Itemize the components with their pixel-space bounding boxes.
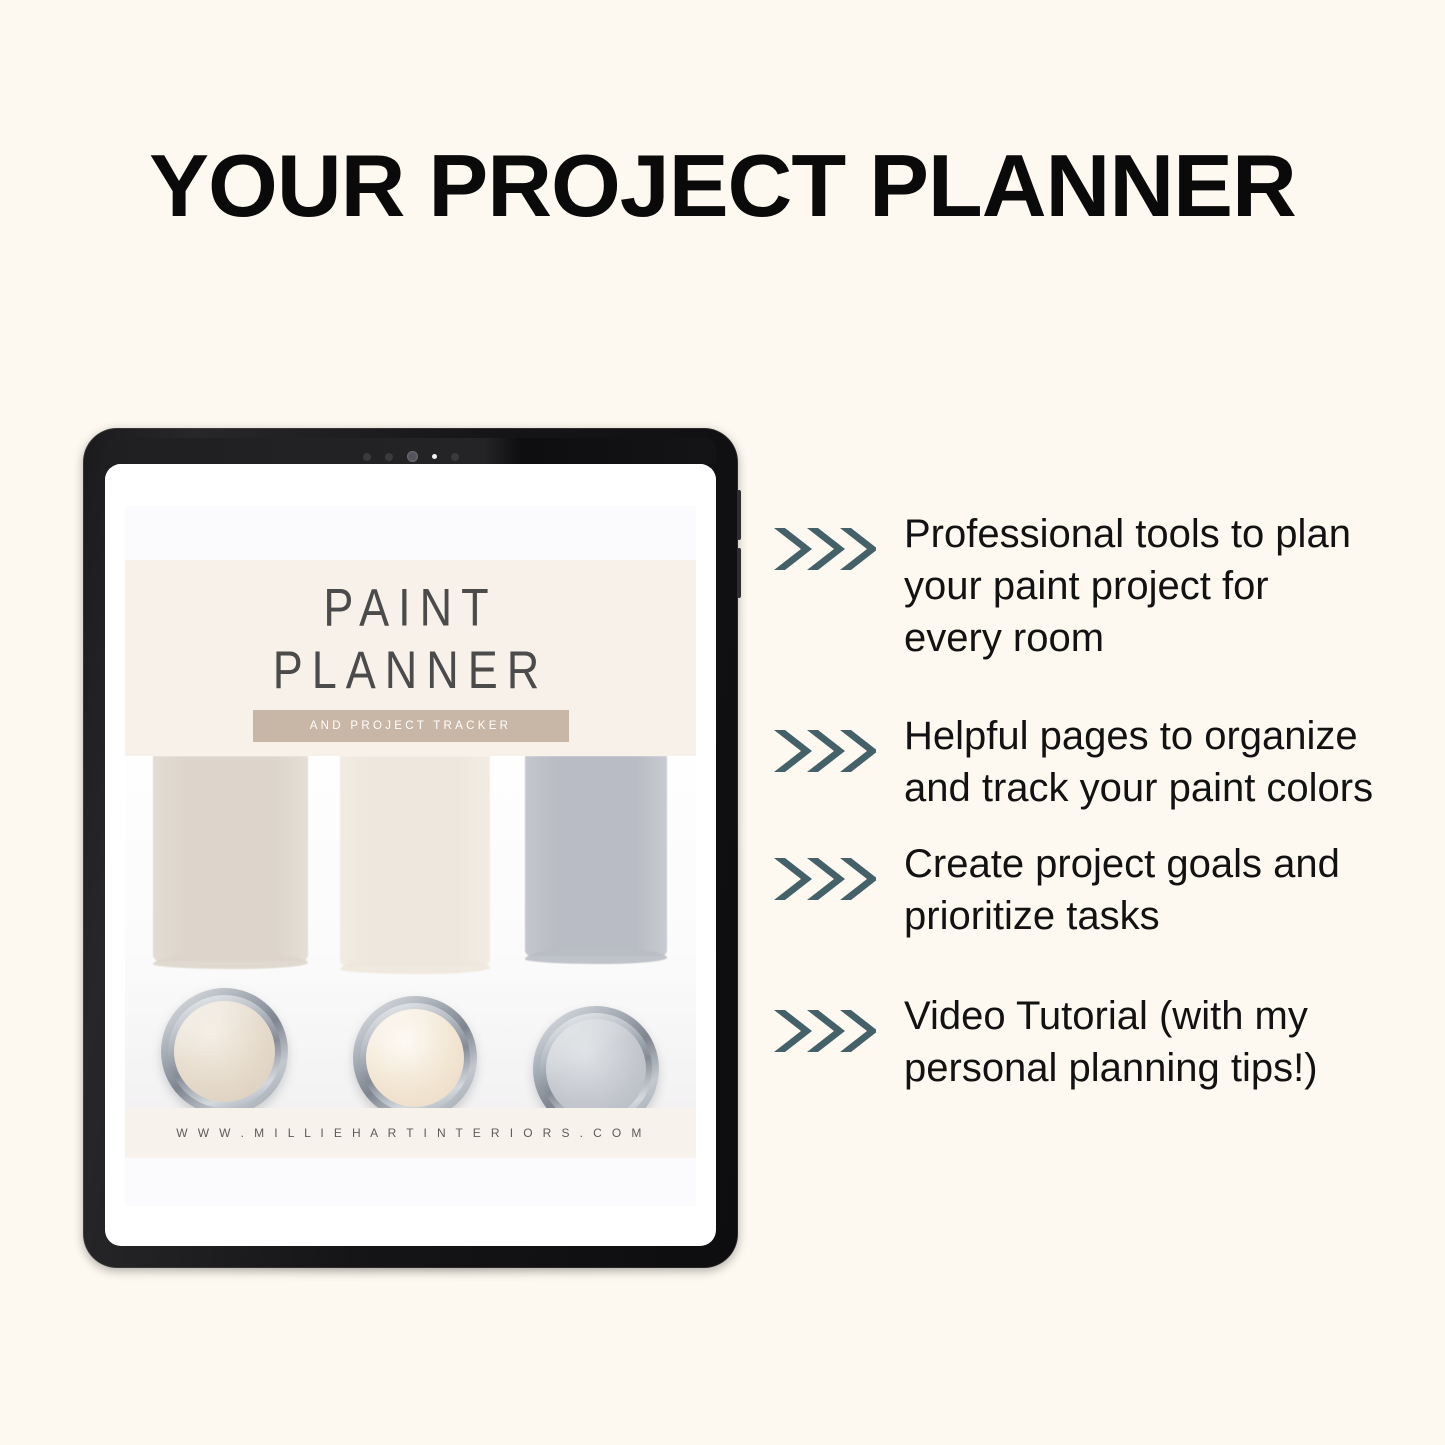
sensor-dot-icon [385,453,393,461]
cover-photo [125,756,696,1108]
can-gloss-highlight [366,1009,464,1107]
feature-item: Create project goals and prioritize task… [772,838,1400,942]
tablet-body: PAINT PLANNER AND PROJECT TRACKER [83,428,738,1268]
front-camera-icon [407,451,418,462]
tablet-mockup: PAINT PLANNER AND PROJECT TRACKER [83,428,738,1268]
website-url: W W W . M I L L I E H A R T I N T E R I … [176,1126,644,1140]
sensor-dot-icon [363,453,371,461]
cover-footer-band: W W W . M I L L I E H A R T I N T E R I … [125,1108,696,1158]
triple-chevron-right-icon [772,522,876,576]
swatch-texture [340,756,490,966]
feature-item: Video Tutorial (with my personal plannin… [772,990,1400,1094]
can-gloss-highlight [174,1001,275,1102]
cover-title-line-1: PAINT [323,577,497,637]
paint-can-cream [353,996,477,1108]
cover-subtitle-band: AND PROJECT TRACKER [253,710,569,742]
can-gloss-highlight [546,1019,646,1108]
cream-swatch [340,756,490,966]
triple-chevron-right-icon [772,724,876,778]
cover-title: PAINT PLANNER [273,576,549,701]
feature-label: Helpful pages to organize and track your… [876,710,1382,814]
feature-list: Professional tools to plan your paint pr… [772,508,1400,1094]
feature-label: Video Tutorial (with my personal plannin… [876,990,1394,1094]
feature-label: Professional tools to plan your paint pr… [876,508,1374,664]
triple-chevron-right-icon [772,852,876,906]
tablet-top-bezel [105,438,716,464]
app-chrome-strip [105,464,716,506]
cover-header-band: PAINT PLANNER AND PROJECT TRACKER [125,560,696,756]
indicator-led-icon [432,454,437,459]
swatch-texture [525,756,667,956]
paint-can-gray [533,1006,659,1108]
cover-title-line-2: PLANNER [273,639,549,702]
feature-item: Helpful pages to organize and track your… [772,710,1400,814]
cover-subtitle: AND PROJECT TRACKER [310,720,512,732]
sensor-dot-icon [451,453,459,461]
triple-chevron-right-icon [772,1004,876,1058]
tablet-screen[interactable]: PAINT PLANNER AND PROJECT TRACKER [105,464,716,1246]
sensor-array [363,451,459,462]
document-page: PAINT PLANNER AND PROJECT TRACKER [125,506,696,1206]
volume-up-button[interactable] [737,490,741,540]
volume-down-button[interactable] [737,548,741,598]
warm-greige-swatch [153,756,308,961]
swatch-texture [153,756,308,961]
cool-gray-swatch [525,756,667,956]
feature-item: Professional tools to plan your paint pr… [772,508,1400,664]
page-title: YOUR PROJECT PLANNER [0,142,1445,230]
paint-can-greige [161,988,288,1108]
feature-label: Create project goals and prioritize task… [876,838,1390,942]
